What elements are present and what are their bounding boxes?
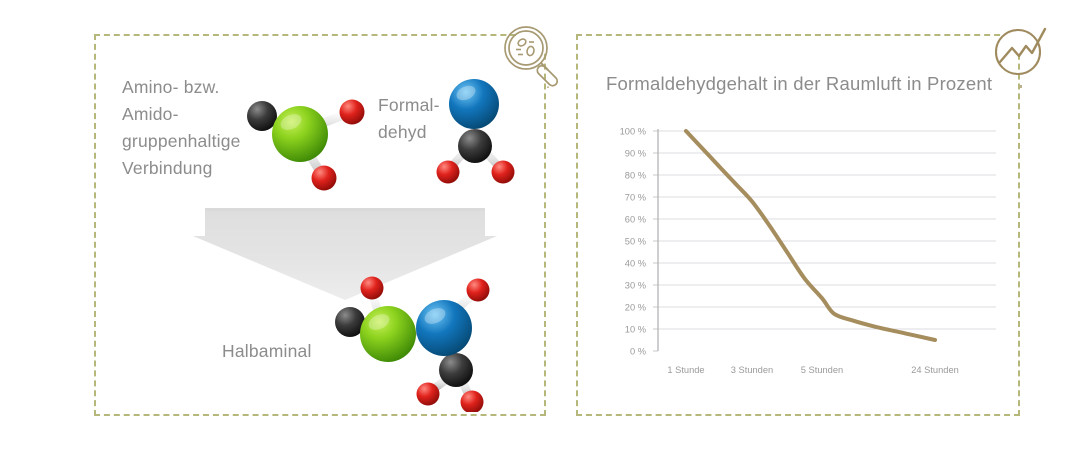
y-axis-label: 100 % — [620, 126, 646, 136]
chart-y-axis-labels: 100 %90 %80 %70 %60 %50 %40 %30 %20 %10 … — [620, 126, 646, 356]
y-axis-label: 30 % — [625, 280, 646, 290]
chart-gridlines — [653, 131, 996, 351]
y-axis-label: 70 % — [625, 192, 646, 202]
formaldehyde-molecule — [428, 70, 528, 190]
amino-compound-molecule — [236, 80, 376, 198]
chart-series-line — [686, 131, 935, 340]
hemiaminal-molecule — [322, 272, 512, 412]
y-axis-label: 10 % — [625, 324, 646, 334]
y-axis-label: 60 % — [625, 214, 646, 224]
trend-chart-icon — [988, 22, 1054, 88]
x-axis-label: 3 Stunden — [731, 365, 773, 375]
x-axis-label: 5 Stunden — [801, 365, 843, 375]
x-axis-label: 24 Stunden — [911, 365, 959, 375]
x-axis-label: 1 Stunde — [667, 365, 704, 375]
y-axis-label: 20 % — [625, 302, 646, 312]
y-axis-label: 90 % — [625, 148, 646, 158]
chart-title: Formaldehydgehalt in der Raumluft in Pro… — [606, 73, 992, 95]
y-axis-label: 0 % — [630, 346, 646, 356]
infographic-canvas: Amino- bzw. Amido- gruppenhaltige Verbin… — [0, 0, 1080, 462]
y-axis-label: 80 % — [625, 170, 646, 180]
chart-x-axis-labels: 1 Stunde3 Stunden5 Stunden24 Stunden — [667, 365, 958, 375]
y-axis-label: 40 % — [625, 258, 646, 268]
line-chart: 100 %90 %80 %70 %60 %50 %40 %30 %20 %10 … — [576, 110, 1020, 380]
y-axis-label: 50 % — [625, 236, 646, 246]
